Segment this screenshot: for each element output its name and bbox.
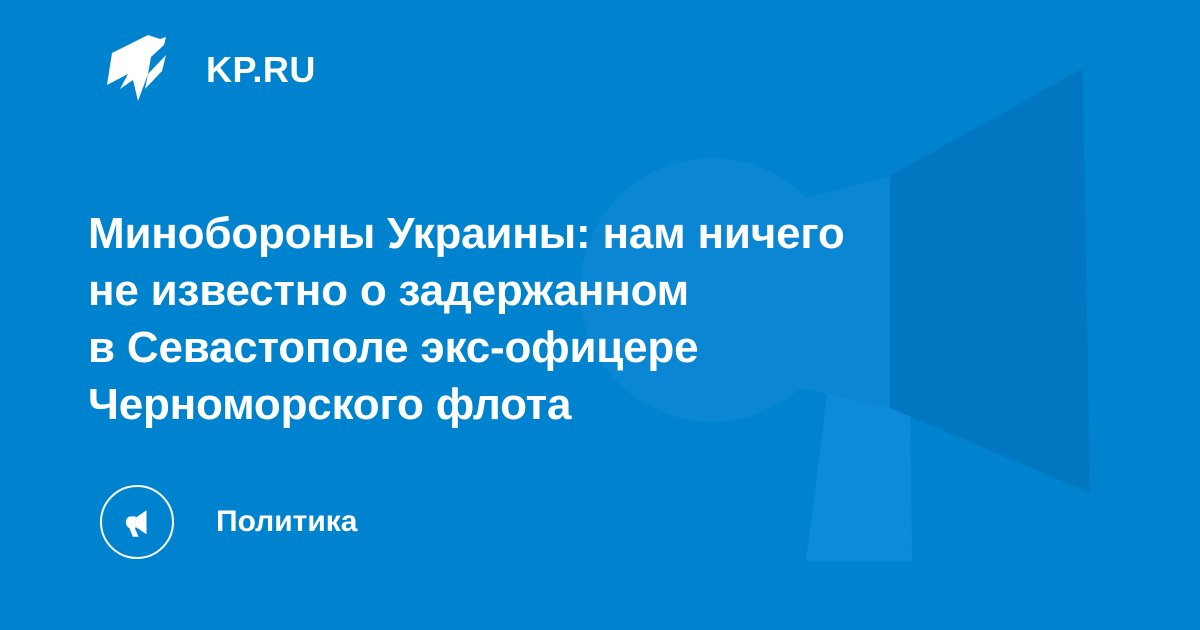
category-label: Политика xyxy=(216,507,357,537)
headline-line-3: в Севастополе экс-офицере xyxy=(88,319,988,376)
headline-line-2: не известно о задержанном xyxy=(88,262,988,319)
megaphone-icon xyxy=(117,502,157,542)
headline-line-1: Минобороны Украины: нам ничего xyxy=(88,205,988,262)
social-share-card: KP.RU Минобороны Украины: нам ничего не … xyxy=(0,0,1200,630)
category-tag[interactable]: Политика xyxy=(100,484,357,560)
brand-name: KP.RU xyxy=(206,52,316,88)
swallow-bird-icon xyxy=(104,33,180,107)
headline-line-4: Черноморского флота xyxy=(88,376,988,433)
category-badge xyxy=(100,485,174,559)
page-title: Минобороны Украины: нам ничего не извест… xyxy=(88,205,988,433)
brand-header[interactable]: KP.RU xyxy=(104,33,316,107)
